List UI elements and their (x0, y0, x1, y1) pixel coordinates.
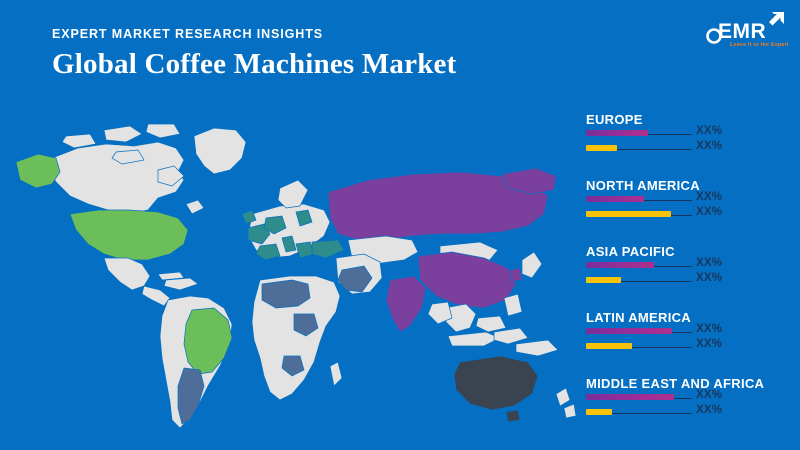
legend-bar-purple (586, 196, 644, 202)
legend-bar-purple (586, 394, 674, 400)
world-map (8, 118, 578, 438)
legend-group-latin-america[interactable]: LATIN AMERICA XX% XX% (586, 310, 792, 355)
legend-value: XX% (696, 404, 722, 416)
legend-value: XX% (696, 323, 722, 335)
region-tasmania (506, 410, 520, 422)
legend-bar-row: XX% (586, 274, 792, 289)
legend-value: XX% (696, 125, 722, 137)
legend-group-europe[interactable]: EUROPE XX% XX% (586, 112, 792, 157)
legend-value: XX% (696, 272, 722, 284)
legend-value: XX% (696, 389, 722, 401)
legend-region-label: EUROPE (586, 112, 792, 127)
legend-bar-row: XX% (586, 208, 792, 223)
legend-region-label: LATIN AMERICA (586, 310, 792, 325)
legend-bar-row: XX% (586, 325, 792, 340)
legend-bar-purple (586, 130, 648, 136)
eyebrow-text: EXPERT MARKET RESEARCH INSIGHTS (52, 27, 323, 41)
legend-group-middle-east-and-africa[interactable]: MIDDLE EAST AND AFRICA XX% XX% (586, 376, 792, 421)
legend-bar-yellow (586, 211, 671, 217)
svg-text:Leave it to the Experts!: Leave it to the Experts! (730, 42, 788, 48)
legend-bar-yellow (586, 277, 621, 283)
emr-logo[interactable]: EMR Leave it to the Experts! (702, 8, 788, 50)
legend-bar-row: XX% (586, 193, 792, 208)
legend-value: XX% (696, 338, 722, 350)
legend-panel: EUROPE XX% XX% NORTH AMERICA XX% (586, 112, 792, 422)
svg-text:EMR: EMR (718, 20, 766, 43)
legend-value: XX% (696, 257, 722, 269)
legend-bar-row: XX% (586, 340, 792, 355)
poster-canvas: EXPERT MARKET RESEARCH INSIGHTS Global C… (0, 0, 800, 450)
legend-bar-row: XX% (586, 127, 792, 142)
legend-bar-yellow (586, 343, 632, 349)
legend-bar-yellow (586, 409, 612, 415)
legend-value: XX% (696, 206, 722, 218)
legend-bar-purple (586, 262, 654, 268)
legend-bar-row: XX% (586, 406, 792, 421)
legend-group-north-america[interactable]: NORTH AMERICA XX% XX% (586, 178, 792, 223)
legend-region-label: ASIA PACIFIC (586, 244, 792, 259)
legend-bar-row: XX% (586, 142, 792, 157)
legend-value: XX% (696, 191, 722, 203)
legend-region-label: MIDDLE EAST AND AFRICA (586, 376, 792, 391)
legend-bar-row: XX% (586, 259, 792, 274)
arrow-up-right-icon (769, 12, 784, 26)
legend-bar-purple (586, 328, 672, 334)
legend-bar-yellow (586, 145, 617, 151)
legend-bar-row: XX% (586, 391, 792, 406)
page-title: Global Coffee Machines Market (52, 48, 456, 81)
legend-value: XX% (696, 140, 722, 152)
legend-region-label: NORTH AMERICA (586, 178, 792, 193)
korea-peninsula (510, 268, 522, 282)
legend-group-asia-pacific[interactable]: ASIA PACIFIC XX% XX% (586, 244, 792, 289)
